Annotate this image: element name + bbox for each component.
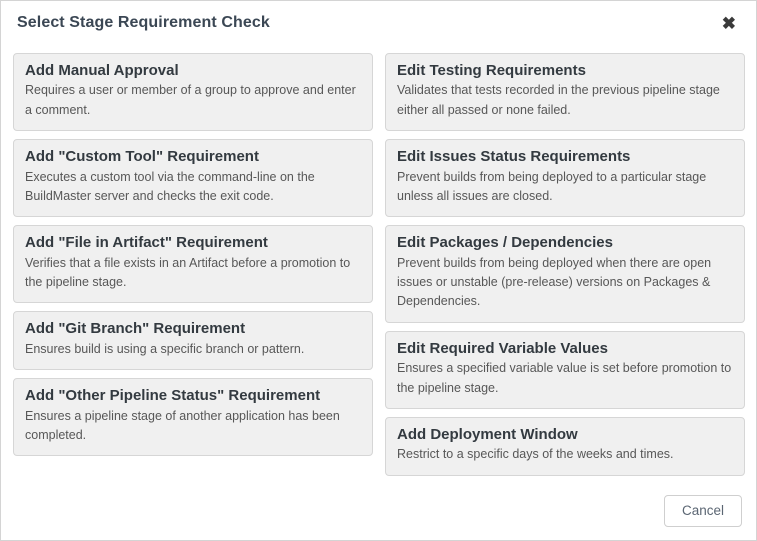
option-title: Add Deployment Window [397, 426, 733, 443]
option-title: Add "Git Branch" Requirement [25, 320, 361, 337]
option-card-add-file-in-artifact-requirement[interactable]: Add "File in Artifact" Requirement Verif… [13, 225, 373, 303]
option-description: Ensures build is using a specific branch… [25, 340, 361, 359]
option-description: Verifies that a file exists in an Artifa… [25, 254, 361, 293]
option-description: Prevent builds from being deployed to a … [397, 168, 733, 207]
dialog-body: Add Manual Approval Requires a user or m… [1, 45, 756, 476]
dialog-title: Select Stage Requirement Check [17, 15, 270, 31]
option-description: Validates that tests recorded in the pre… [397, 81, 733, 120]
right-option-column: Edit Testing Requirements Validates that… [385, 53, 745, 476]
option-card-edit-testing-requirements[interactable]: Edit Testing Requirements Validates that… [385, 53, 745, 131]
option-description: Ensures a specified variable value is se… [397, 359, 733, 398]
option-title: Edit Packages / Dependencies [397, 234, 733, 251]
option-card-add-custom-tool-requirement[interactable]: Add "Custom Tool" Requirement Executes a… [13, 139, 373, 217]
option-card-add-deployment-window[interactable]: Add Deployment Window Restrict to a spec… [385, 417, 745, 476]
select-stage-requirement-dialog: Select Stage Requirement Check ✖ Add Man… [0, 0, 757, 541]
dialog-header: Select Stage Requirement Check ✖ [1, 1, 756, 45]
option-description: Restrict to a specific days of the weeks… [397, 445, 733, 464]
cancel-button[interactable]: Cancel [664, 495, 742, 527]
left-option-column: Add Manual Approval Requires a user or m… [13, 53, 373, 456]
option-card-edit-issues-status-requirements[interactable]: Edit Issues Status Requirements Prevent … [385, 139, 745, 217]
option-card-add-git-branch-requirement[interactable]: Add "Git Branch" Requirement Ensures bui… [13, 311, 373, 370]
option-title: Edit Required Variable Values [397, 340, 733, 357]
option-title: Add Manual Approval [25, 62, 361, 79]
option-card-edit-required-variable-values[interactable]: Edit Required Variable Values Ensures a … [385, 331, 745, 409]
dialog-footer: Cancel [1, 482, 756, 540]
option-description: Prevent builds from being deployed when … [397, 254, 733, 312]
option-columns: Add Manual Approval Requires a user or m… [13, 53, 745, 476]
option-card-add-other-pipeline-status-requirement[interactable]: Add "Other Pipeline Status" Requirement … [13, 378, 373, 456]
option-title: Add "File in Artifact" Requirement [25, 234, 361, 251]
option-card-add-manual-approval[interactable]: Add Manual Approval Requires a user or m… [13, 53, 373, 131]
option-description: Executes a custom tool via the command-l… [25, 168, 361, 207]
option-description: Ensures a pipeline stage of another appl… [25, 407, 361, 446]
option-title: Edit Testing Requirements [397, 62, 733, 79]
option-title: Edit Issues Status Requirements [397, 148, 733, 165]
option-title: Add "Custom Tool" Requirement [25, 148, 361, 165]
option-description: Requires a user or member of a group to … [25, 81, 361, 120]
close-icon[interactable]: ✖ [716, 13, 742, 34]
option-card-edit-packages-dependencies[interactable]: Edit Packages / Dependencies Prevent bui… [385, 225, 745, 323]
option-title: Add "Other Pipeline Status" Requirement [25, 387, 361, 404]
